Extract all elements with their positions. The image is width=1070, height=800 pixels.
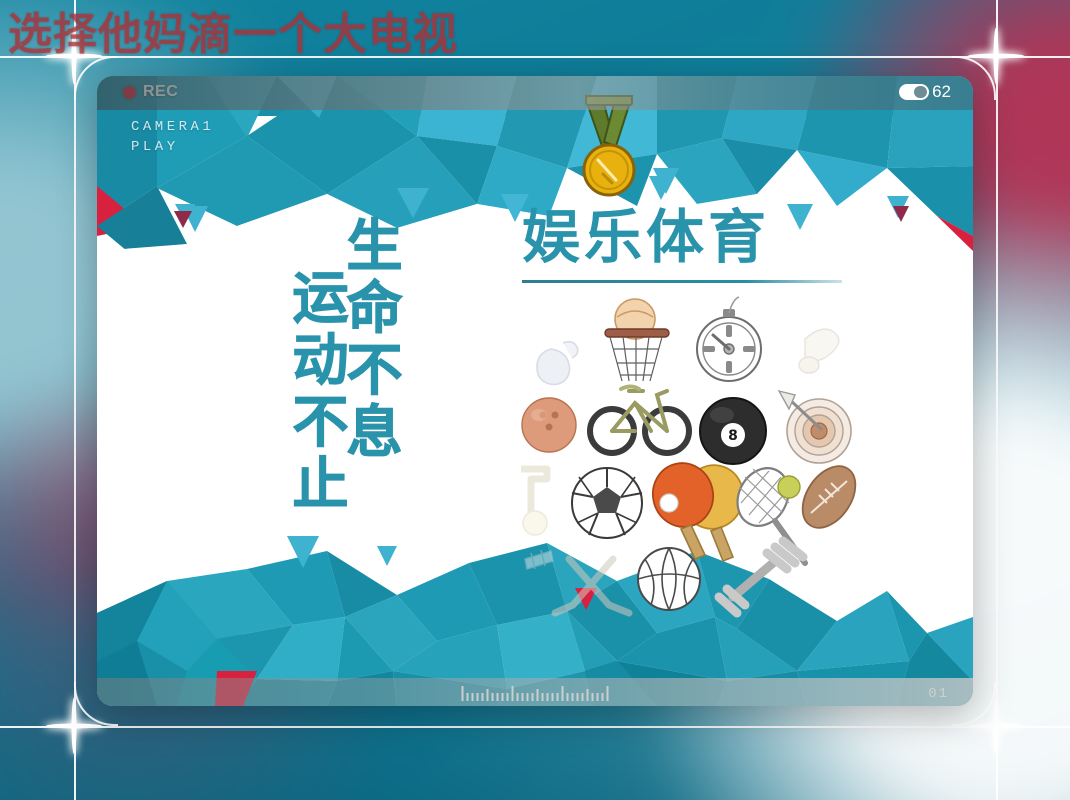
slogan-vertical-block: 运动不止 生命不息 (287, 216, 397, 516)
american-football-icon (792, 457, 867, 538)
svg-text:8: 8 (728, 428, 738, 444)
battery-indicator: 62 (899, 82, 951, 102)
slogan-column-right: 生命不息 (341, 216, 397, 464)
soccer-ball-icon (572, 468, 642, 538)
tv-screen[interactable]: REC CAMERA1 PLAY 62 运动不止 (97, 76, 973, 706)
billiard-eight-ball-icon: 8 (700, 398, 766, 464)
volleyball-icon (638, 548, 700, 610)
basketball-hoop-icon (605, 299, 669, 381)
ski-icon (525, 550, 553, 569)
screenshot-stage: 选择他妈滴一个大电视 (0, 0, 1070, 800)
watermark-text: 选择他妈滴一个大电视 (8, 0, 458, 62)
golf-club-icon (521, 469, 547, 535)
hockey-sticks-icon (555, 559, 629, 613)
bicycle-icon (590, 387, 689, 454)
camera-channel-label: CAMERA1 (131, 117, 214, 137)
gold-medal-icon (572, 94, 644, 209)
slide-canvas: REC CAMERA1 PLAY 62 运动不止 (97, 76, 973, 706)
badminton-shuttlecock-icon (799, 329, 839, 373)
stopwatch-icon (697, 297, 761, 381)
bowling-ball-icon (522, 398, 576, 452)
sports-icon-cluster: 8 (517, 291, 867, 621)
tv-osd-top-bar (97, 76, 973, 110)
page-title: 娱乐体育 (522, 208, 852, 266)
tv-osd-bottom-bar (97, 678, 973, 706)
title-underline (522, 280, 842, 283)
battery-level-value: 62 (932, 82, 951, 102)
battery-icon (899, 84, 929, 100)
dartboard-icon (779, 391, 851, 463)
ping-pong-paddles-icon (646, 457, 751, 561)
playback-state-label: PLAY (131, 137, 214, 157)
boxing-glove-icon (537, 342, 578, 385)
headline-block: 娱乐体育 (522, 208, 852, 283)
tv-osd-source-info: CAMERA1 PLAY (131, 117, 214, 158)
slogan-column-left: 运动不止 (287, 268, 343, 516)
